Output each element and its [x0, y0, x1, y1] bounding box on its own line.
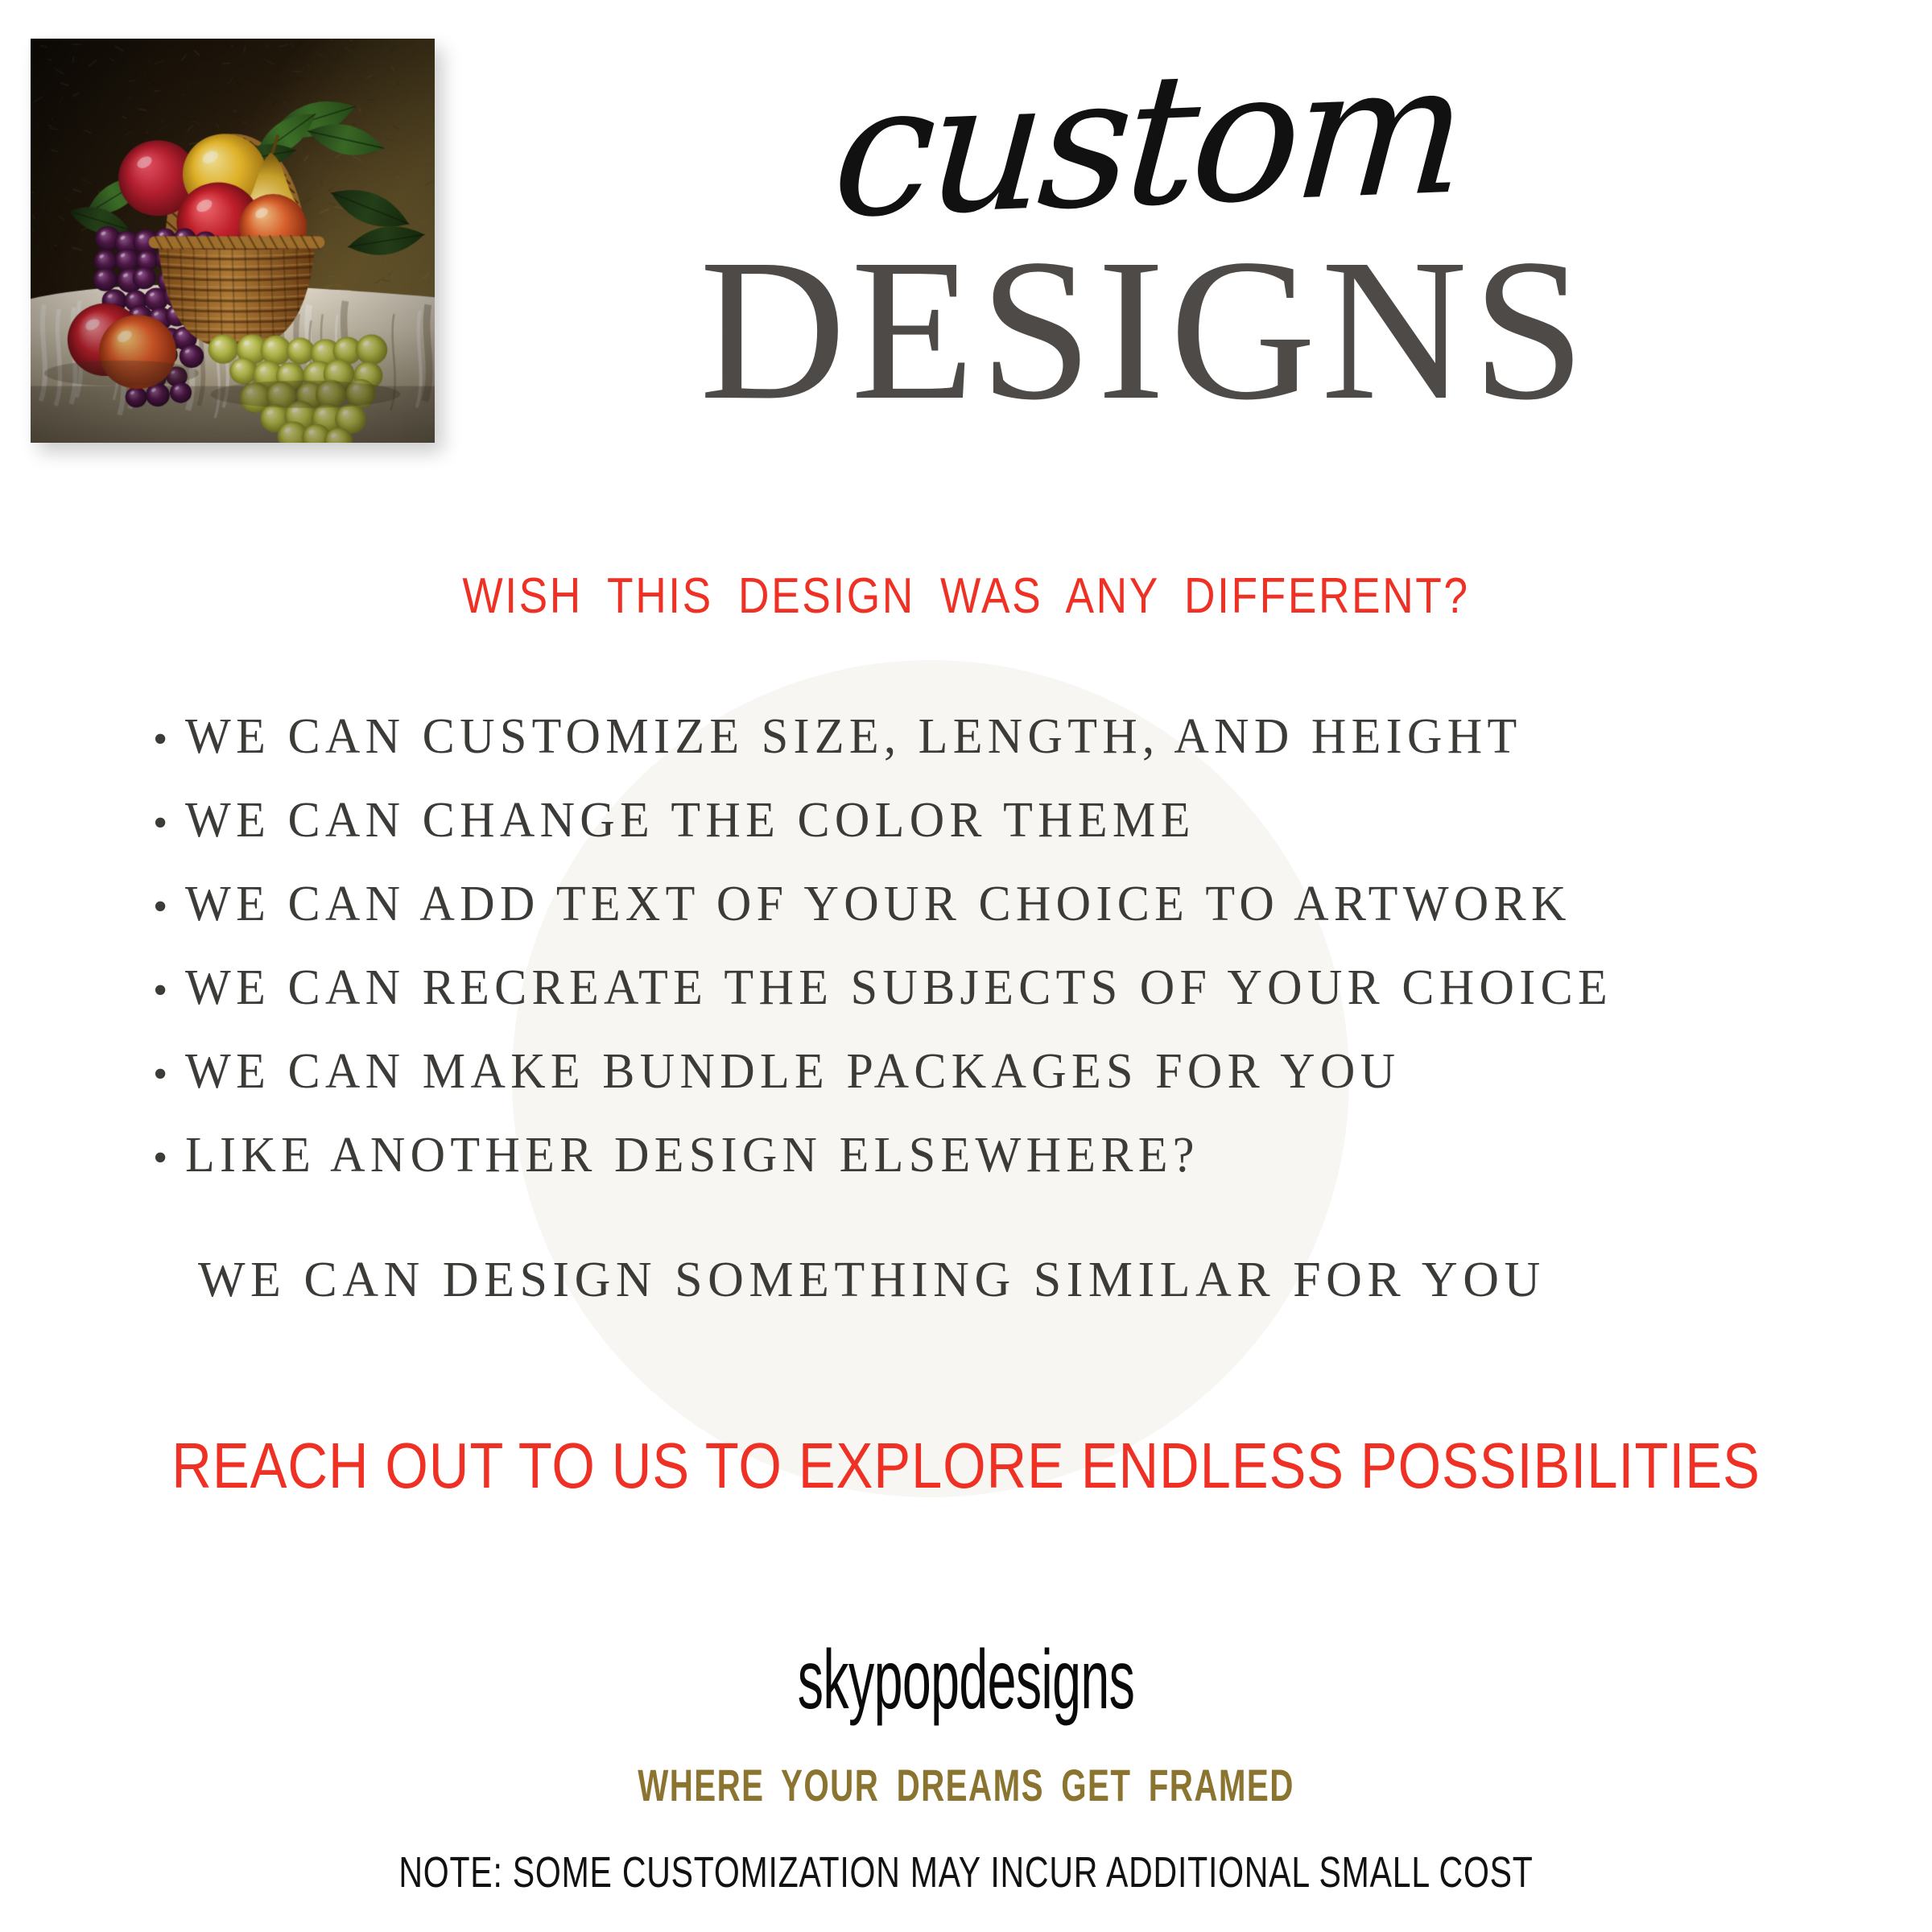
list-item-label: WE CAN MAKE BUNDLE PACKAGES FOR YOU: [185, 1043, 1400, 1100]
list-item: • WE CAN RECREATE THE SUBJECTS OF YOUR C…: [153, 960, 1843, 1014]
list-item: • WE CAN CUSTOMIZE SIZE, LENGTH, AND HEI…: [153, 708, 1843, 763]
list-item-continuation-label: WE CAN DESIGN SOMETHING SIMILAR FOR YOU: [198, 1252, 1546, 1309]
page-title-designs: DESIGNS: [451, 237, 1819, 423]
call-to-action-text: REACH OUT TO US TO EXPLORE ENDLESS POSSI…: [135, 1429, 1797, 1503]
brand-tagline: WHERE YOUR DREAMS GET FRAMED: [270, 1759, 1662, 1811]
list-item-label: WE CAN RECREATE THE SUBJECTS OF YOUR CHO…: [185, 960, 1612, 1017]
brand-logo-wordmark: skypopdesigns: [367, 1633, 1565, 1728]
list-item-label: WE CAN CHANGE THE COLOR THEME: [185, 792, 1195, 849]
benefits-list: • WE CAN CUSTOMIZE SIZE, LENGTH, AND HEI…: [153, 708, 1843, 1211]
question-tagline: WISH THIS DESIGN WAS ANY DIFFERENT?: [135, 568, 1797, 625]
list-item: • WE CAN CHANGE THE COLOR THEME: [153, 792, 1843, 847]
bullet-dot-icon: •: [153, 970, 185, 1012]
list-item: • WE CAN ADD TEXT OF YOUR CHOICE TO ARTW…: [153, 876, 1843, 931]
list-item-label: LIKE ANOTHER DESIGN ELSEWHERE?: [185, 1127, 1199, 1184]
bullet-dot-icon: •: [153, 803, 185, 844]
still-life-fruit-basket-painting: [31, 39, 435, 443]
bullet-dot-icon: •: [153, 886, 185, 928]
bullet-dot-icon: •: [153, 719, 185, 761]
script-title-custom: custom: [446, 30, 1825, 255]
list-item-label: WE CAN ADD TEXT OF YOUR CHOICE TO ARTWOR…: [185, 876, 1571, 933]
poster-header: custom DESIGNS: [451, 56, 1819, 423]
list-item: • LIKE ANOTHER DESIGN ELSEWHERE?: [153, 1127, 1843, 1182]
bullet-dot-icon: •: [153, 1054, 185, 1096]
list-item: • WE CAN MAKE BUNDLE PACKAGES FOR YOU: [153, 1043, 1843, 1098]
customization-cost-note: NOTE: SOME CUSTOMIZATION MAY INCUR ADDIT…: [232, 1847, 1700, 1897]
list-item-label: WE CAN CUSTOMIZE SIZE, LENGTH, AND HEIGH…: [185, 708, 1522, 766]
custom-designs-promo-poster: custom DESIGNS WISH THIS DESIGN WAS ANY …: [0, 0, 1932, 1932]
artwork-thumbnail[interactable]: [31, 39, 435, 443]
bullet-dot-icon: •: [153, 1137, 185, 1179]
